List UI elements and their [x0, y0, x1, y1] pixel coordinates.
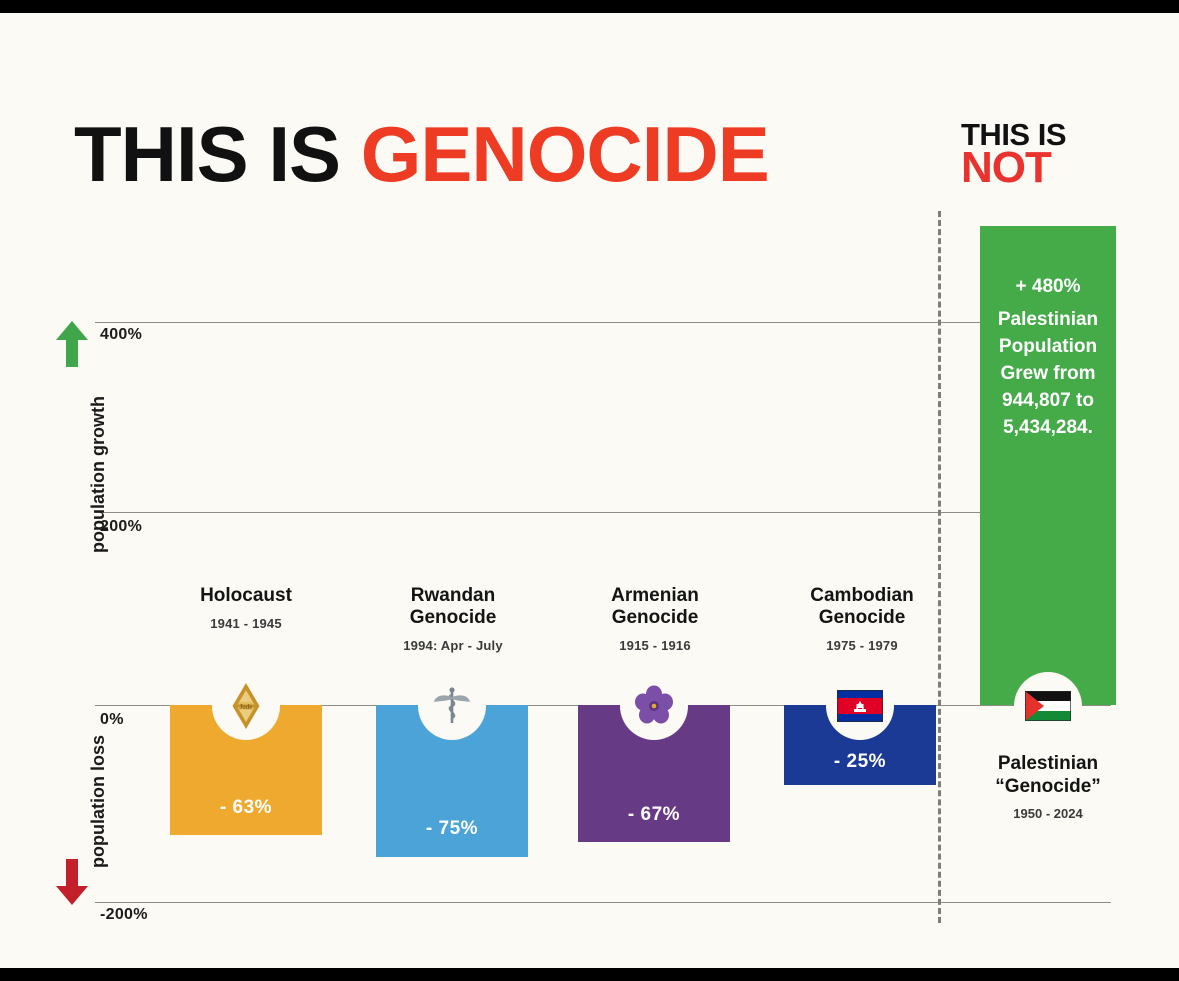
- chart-canvas: THIS IS GENOCIDE THIS IS NOT 400% 200% 0…: [0, 13, 1179, 968]
- palestinian-note-line-1: Palestinian: [998, 309, 1098, 330]
- infographic-root: THIS IS GENOCIDE THIS IS NOT 400% 200% 0…: [0, 0, 1179, 981]
- category-dates: 1975 - 1979: [762, 638, 962, 653]
- gridline-neg200: [95, 902, 1111, 903]
- section-divider: [938, 211, 941, 923]
- bar-value-label: - 67%: [578, 804, 730, 826]
- palestinian-note-line-2: Population: [999, 336, 1097, 357]
- palestinian-category-label: Palestinian “Genocide” 1950 - 2024: [968, 753, 1128, 821]
- category-title: Rwandan Genocide: [358, 585, 548, 629]
- star-of-david-badge-icon: Jude: [212, 672, 280, 740]
- category-dates: 1994: Apr - July: [358, 638, 548, 653]
- forget-me-not-flower-icon: [620, 672, 688, 740]
- category-title-line2: Genocide: [819, 607, 906, 628]
- bar-value-label: - 25%: [784, 751, 936, 773]
- bar-palestinian[interactable]: + 480% Palestinian Population Grew from …: [980, 226, 1116, 705]
- axis-caption-population-loss: population loss: [88, 735, 109, 868]
- category-title-line1: Cambodian: [810, 585, 913, 606]
- category-title-line2: Genocide: [410, 607, 497, 628]
- category-title-line1: Armenian: [611, 585, 699, 606]
- category-title: Armenian Genocide: [560, 585, 750, 629]
- category-dates: 1941 - 1945: [156, 616, 336, 631]
- category-title: Cambodian Genocide: [762, 585, 962, 629]
- axis-tick-0: 0%: [100, 711, 124, 729]
- plot-area: 400% 200% 0% -200% population growth pop…: [0, 13, 1179, 968]
- category-rwandan-genocide: Rwandan Genocide 1994: Apr - July: [358, 585, 548, 653]
- cambodia-flag-icon: [826, 672, 894, 740]
- category-title: Holocaust: [156, 585, 336, 607]
- category-armenian-genocide: Armenian Genocide 1915 - 1916: [560, 585, 750, 653]
- category-title-line1: Rwandan: [411, 585, 495, 606]
- category-holocaust: Holocaust 1941 - 1945: [156, 585, 336, 631]
- palestinian-label-line1: Palestinian: [968, 753, 1128, 776]
- axis-caption-population-growth: population growth: [88, 396, 109, 553]
- bar-value-label: - 63%: [170, 797, 322, 819]
- palestinian-note-line-3: Grew from: [1000, 363, 1095, 384]
- bar-value-label: - 75%: [376, 818, 528, 840]
- palestinian-note-line-5: 5,434,284.: [1003, 417, 1093, 438]
- axis-tick-400: 400%: [100, 326, 142, 344]
- population-growth-arrow-icon: [55, 321, 89, 372]
- caduceus-icon: [418, 672, 486, 740]
- gridline-400: [95, 322, 1111, 323]
- palestinian-label-dates: 1950 - 2024: [968, 806, 1128, 821]
- palestinian-growth-pct: + 480%: [980, 274, 1116, 301]
- population-loss-arrow-icon: [55, 859, 89, 910]
- palestinian-note-line-4: 944,807 to: [1002, 390, 1094, 411]
- svg-text:Jude: Jude: [240, 703, 253, 711]
- category-title-line2: Genocide: [612, 607, 699, 628]
- axis-tick-neg200: -200%: [100, 906, 148, 924]
- gridline-200: [95, 512, 1111, 513]
- palestinian-bar-annotation: + 480% Palestinian Population Grew from …: [980, 274, 1116, 442]
- palestinian-label-line2: “Genocide”: [968, 776, 1128, 799]
- palestine-flag-icon: [1014, 672, 1082, 740]
- category-dates: 1915 - 1916: [560, 638, 750, 653]
- category-cambodian-genocide: Cambodian Genocide 1975 - 1979: [762, 585, 962, 653]
